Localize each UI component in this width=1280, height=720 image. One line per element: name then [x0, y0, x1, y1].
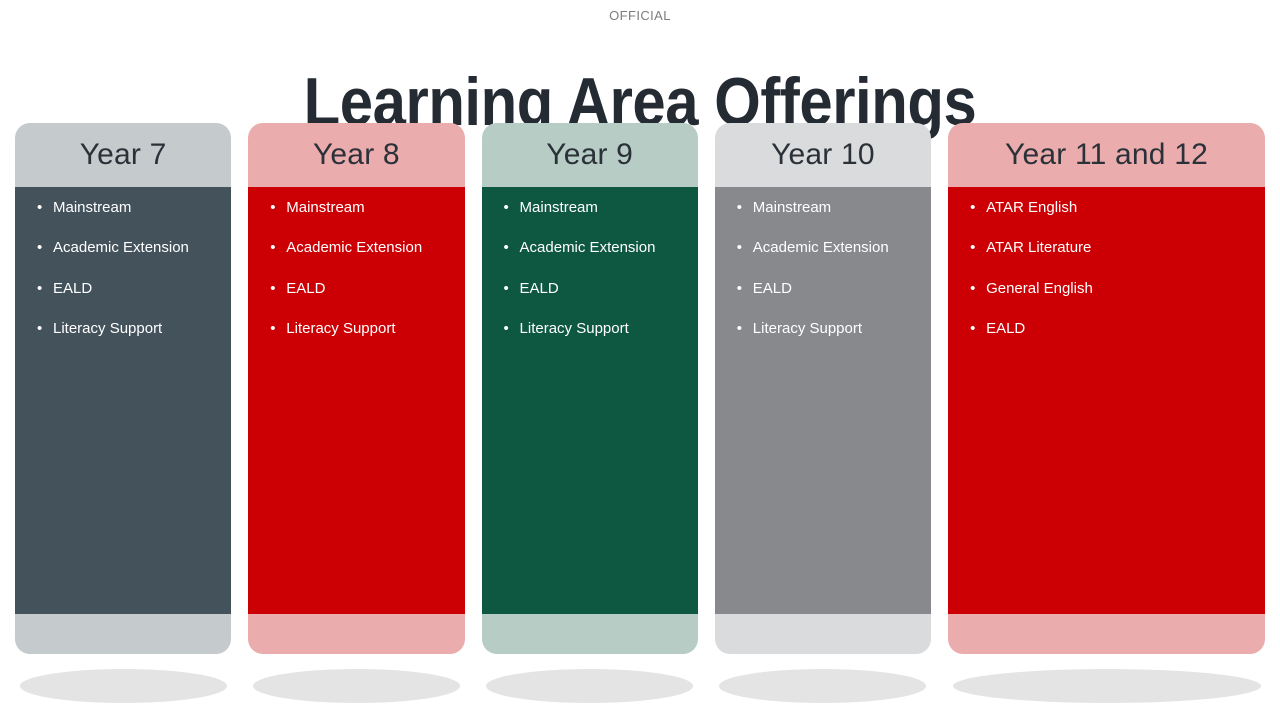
offering-item: •Academic Extension: [482, 239, 698, 256]
bullet-icon: •: [970, 280, 986, 297]
card-shadow: [719, 669, 926, 703]
card-title: Year 10: [771, 138, 875, 172]
bullet-icon: •: [37, 280, 53, 297]
offering-label: ATAR English: [986, 199, 1259, 216]
card-footer: [948, 614, 1265, 654]
offering-label: EALD: [753, 280, 925, 297]
offering-label: Mainstream: [53, 199, 225, 216]
bullet-icon: •: [970, 320, 986, 337]
offering-label: Academic Extension: [753, 239, 925, 256]
bullet-icon: •: [37, 239, 53, 256]
offering-list: •Mainstream•Academic Extension•EALD•Lite…: [15, 199, 231, 337]
card-panel: Year 9•Mainstream•Academic Extension•EAL…: [482, 123, 698, 654]
year-card-deck: Year 7•Mainstream•Academic Extension•EAL…: [15, 123, 1265, 703]
card-header: Year 10: [715, 123, 931, 187]
offering-item: •General English: [948, 280, 1265, 297]
bullet-icon: •: [270, 199, 286, 216]
bullet-icon: •: [270, 280, 286, 297]
bullet-icon: •: [504, 239, 520, 256]
offering-list: •Mainstream•Academic Extension•EALD•Lite…: [248, 199, 464, 337]
year-card-year-10[interactable]: Year 10•Mainstream•Academic Extension•EA…: [715, 123, 931, 703]
card-body: •Mainstream•Academic Extension•EALD•Lite…: [482, 187, 698, 614]
bullet-icon: •: [37, 199, 53, 216]
offering-item: •Literacy Support: [715, 320, 931, 337]
card-shadow: [253, 669, 460, 703]
bullet-icon: •: [737, 280, 753, 297]
offering-label: Mainstream: [286, 199, 458, 216]
card-body: •Mainstream•Academic Extension•EALD•Lite…: [15, 187, 231, 614]
offering-label: Academic Extension: [520, 239, 692, 256]
bullet-icon: •: [737, 239, 753, 256]
bullet-icon: •: [504, 199, 520, 216]
offering-item: •EALD: [248, 280, 464, 297]
offering-list: •Mainstream•Academic Extension•EALD•Lite…: [482, 199, 698, 337]
card-footer: [248, 614, 464, 654]
offering-label: Mainstream: [520, 199, 692, 216]
bullet-icon: •: [37, 320, 53, 337]
offering-item: •EALD: [482, 280, 698, 297]
offering-item: •Academic Extension: [715, 239, 931, 256]
bullet-icon: •: [970, 239, 986, 256]
offering-item: •Academic Extension: [248, 239, 464, 256]
card-header: Year 7: [15, 123, 231, 187]
card-panel: Year 8•Mainstream•Academic Extension•EAL…: [248, 123, 464, 654]
bullet-icon: •: [270, 239, 286, 256]
classification-label: OFFICIAL: [0, 8, 1280, 23]
offering-item: •EALD: [15, 280, 231, 297]
offering-item: •Literacy Support: [15, 320, 231, 337]
bullet-icon: •: [737, 199, 753, 216]
bullet-icon: •: [270, 320, 286, 337]
card-body: •Mainstream•Academic Extension•EALD•Lite…: [248, 187, 464, 614]
card-header: Year 8: [248, 123, 464, 187]
offering-label: EALD: [520, 280, 692, 297]
bullet-icon: •: [737, 320, 753, 337]
offering-label: Literacy Support: [520, 320, 692, 337]
offering-label: Literacy Support: [286, 320, 458, 337]
offering-label: General English: [986, 280, 1259, 297]
year-card-year-7[interactable]: Year 7•Mainstream•Academic Extension•EAL…: [15, 123, 231, 703]
card-footer: [15, 614, 231, 654]
offering-list: •ATAR English•ATAR Literature•General En…: [948, 199, 1265, 337]
card-panel: Year 10•Mainstream•Academic Extension•EA…: [715, 123, 931, 654]
offering-item: •ATAR English: [948, 199, 1265, 216]
card-body: •Mainstream•Academic Extension•EALD•Lite…: [715, 187, 931, 614]
year-card-year-8[interactable]: Year 8•Mainstream•Academic Extension•EAL…: [248, 123, 464, 703]
offering-label: EALD: [286, 280, 458, 297]
card-panel: Year 7•Mainstream•Academic Extension•EAL…: [15, 123, 231, 654]
bullet-icon: •: [504, 320, 520, 337]
offering-item: •EALD: [715, 280, 931, 297]
card-title: Year 7: [80, 138, 167, 172]
offering-item: •EALD: [948, 320, 1265, 337]
offering-item: •Mainstream: [715, 199, 931, 216]
offering-item: •Literacy Support: [482, 320, 698, 337]
year-card-year-9[interactable]: Year 9•Mainstream•Academic Extension•EAL…: [482, 123, 698, 703]
offering-item: •Mainstream: [15, 199, 231, 216]
bullet-icon: •: [970, 199, 986, 216]
year-card-year-11-and-12[interactable]: Year 11 and 12•ATAR English•ATAR Literat…: [948, 123, 1265, 703]
offering-label: Mainstream: [753, 199, 925, 216]
card-shadow: [953, 669, 1261, 703]
card-footer: [482, 614, 698, 654]
offering-label: Academic Extension: [53, 239, 225, 256]
offering-label: EALD: [53, 280, 225, 297]
card-header: Year 11 and 12: [948, 123, 1265, 187]
card-body: •ATAR English•ATAR Literature•General En…: [948, 187, 1265, 614]
offering-item: •Mainstream: [482, 199, 698, 216]
offering-label: ATAR Literature: [986, 239, 1259, 256]
card-title: Year 11 and 12: [1005, 138, 1208, 172]
card-panel: Year 11 and 12•ATAR English•ATAR Literat…: [948, 123, 1265, 654]
offering-item: •Literacy Support: [248, 320, 464, 337]
card-footer: [715, 614, 931, 654]
offering-label: EALD: [986, 320, 1259, 337]
offering-label: Literacy Support: [53, 320, 225, 337]
offering-item: •ATAR Literature: [948, 239, 1265, 256]
card-shadow: [486, 669, 693, 703]
offering-item: •Mainstream: [248, 199, 464, 216]
offering-item: •Academic Extension: [15, 239, 231, 256]
bullet-icon: •: [504, 280, 520, 297]
card-title: Year 8: [313, 138, 400, 172]
card-shadow: [20, 669, 227, 703]
offering-label: Literacy Support: [753, 320, 925, 337]
offering-label: Academic Extension: [286, 239, 458, 256]
offering-list: •Mainstream•Academic Extension•EALD•Lite…: [715, 199, 931, 337]
card-title: Year 9: [546, 138, 633, 172]
card-header: Year 9: [482, 123, 698, 187]
